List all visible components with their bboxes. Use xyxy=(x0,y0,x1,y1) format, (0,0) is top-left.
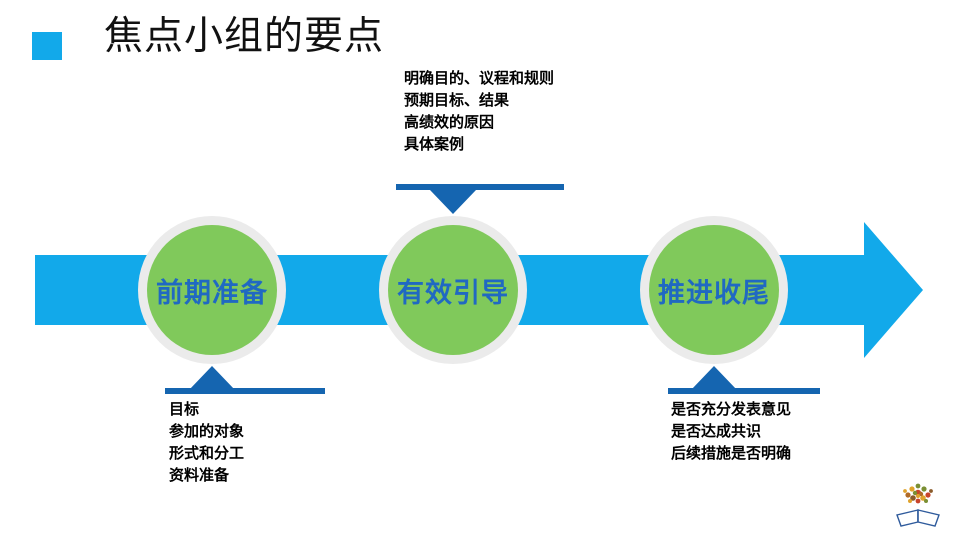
callout-connector-bottom-right xyxy=(668,366,820,394)
title-bullet-square xyxy=(32,32,62,60)
connector-bar xyxy=(165,388,325,394)
connector-pointer-down-icon xyxy=(430,190,476,214)
connector-pointer-up-icon xyxy=(189,366,235,390)
stage-label: 推进收尾 xyxy=(640,216,788,364)
callout-line: 资料准备 xyxy=(169,464,244,486)
callout-line: 是否达成共识 xyxy=(671,420,791,442)
stage-node-3[interactable]: 推进收尾 xyxy=(640,216,788,364)
callout-line: 目标 xyxy=(169,398,244,420)
slide-canvas: 焦点小组的要点 前期准备 有效引导 推进收尾 明确目的、议程 xyxy=(0,0,954,536)
callout-line: 具体案例 xyxy=(404,133,554,155)
connector-bar xyxy=(668,388,820,394)
stage-node-2[interactable]: 有效引导 xyxy=(379,216,527,364)
stage-node-1[interactable]: 前期准备 xyxy=(138,216,286,364)
callout-line: 明确目的、议程和规则 xyxy=(404,67,554,89)
callout-line: 参加的对象 xyxy=(169,420,244,442)
callout-text-bottom-left: 目标 参加的对象 形式和分工 资料准备 xyxy=(169,398,244,486)
callout-line: 是否充分发表意见 xyxy=(671,398,791,420)
connector-bar xyxy=(396,184,564,190)
page-title: 焦点小组的要点 xyxy=(104,12,384,62)
callout-line: 高绩效的原因 xyxy=(404,111,554,133)
callout-line: 形式和分工 xyxy=(169,442,244,464)
logo-book xyxy=(897,510,939,526)
stage-label: 有效引导 xyxy=(379,216,527,364)
callout-connector-top xyxy=(396,184,564,216)
book-tree-logo xyxy=(891,477,945,529)
logo-foliage xyxy=(903,484,933,504)
callout-line: 预期目标、结果 xyxy=(404,89,554,111)
stage-label: 前期准备 xyxy=(138,216,286,364)
callout-text-bottom-right: 是否充分发表意见 是否达成共识 后续措施是否明确 xyxy=(671,398,791,464)
callout-line: 后续措施是否明确 xyxy=(671,442,791,464)
connector-pointer-up-icon xyxy=(691,366,737,390)
callout-connector-bottom-left xyxy=(165,366,325,394)
callout-text-top: 明确目的、议程和规则 预期目标、结果 高绩效的原因 具体案例 xyxy=(404,67,554,155)
